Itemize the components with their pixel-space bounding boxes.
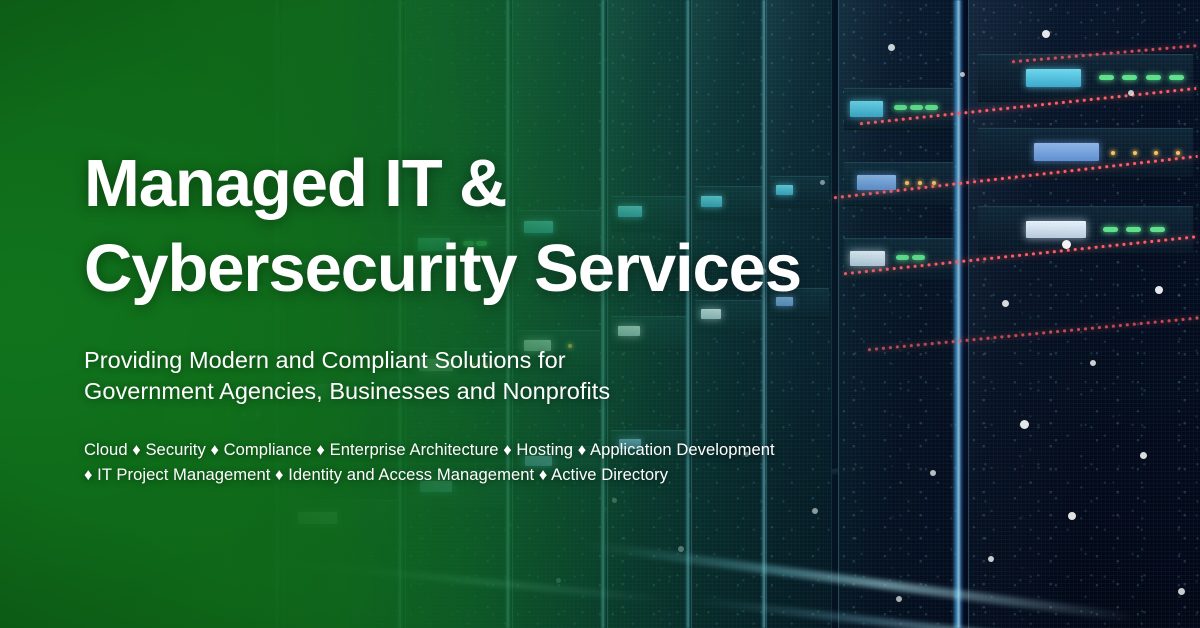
subtitle-line-2: Government Agencies, Businesses and Nonp…	[84, 376, 984, 407]
services-line-1: Cloud ♦ Security ♦ Compliance ♦ Enterpri…	[84, 440, 775, 459]
headline-line-1: Managed IT &	[84, 146, 506, 221]
subtitle-line-1: Providing Modern and Compliant Solutions…	[84, 347, 566, 373]
page-title: Managed IT & Cybersecurity Services	[84, 141, 984, 311]
headline-line-2: Cybersecurity Services	[84, 226, 984, 311]
subtitle: Providing Modern and Compliant Solutions…	[84, 345, 984, 407]
hero-banner: Managed IT & Cybersecurity Services Prov…	[0, 0, 1200, 628]
services-line-2: ♦ IT Project Management ♦ Identity and A…	[84, 462, 984, 488]
banner-content: Managed IT & Cybersecurity Services Prov…	[84, 0, 984, 628]
services-list: Cloud ♦ Security ♦ Compliance ♦ Enterpri…	[84, 437, 984, 488]
